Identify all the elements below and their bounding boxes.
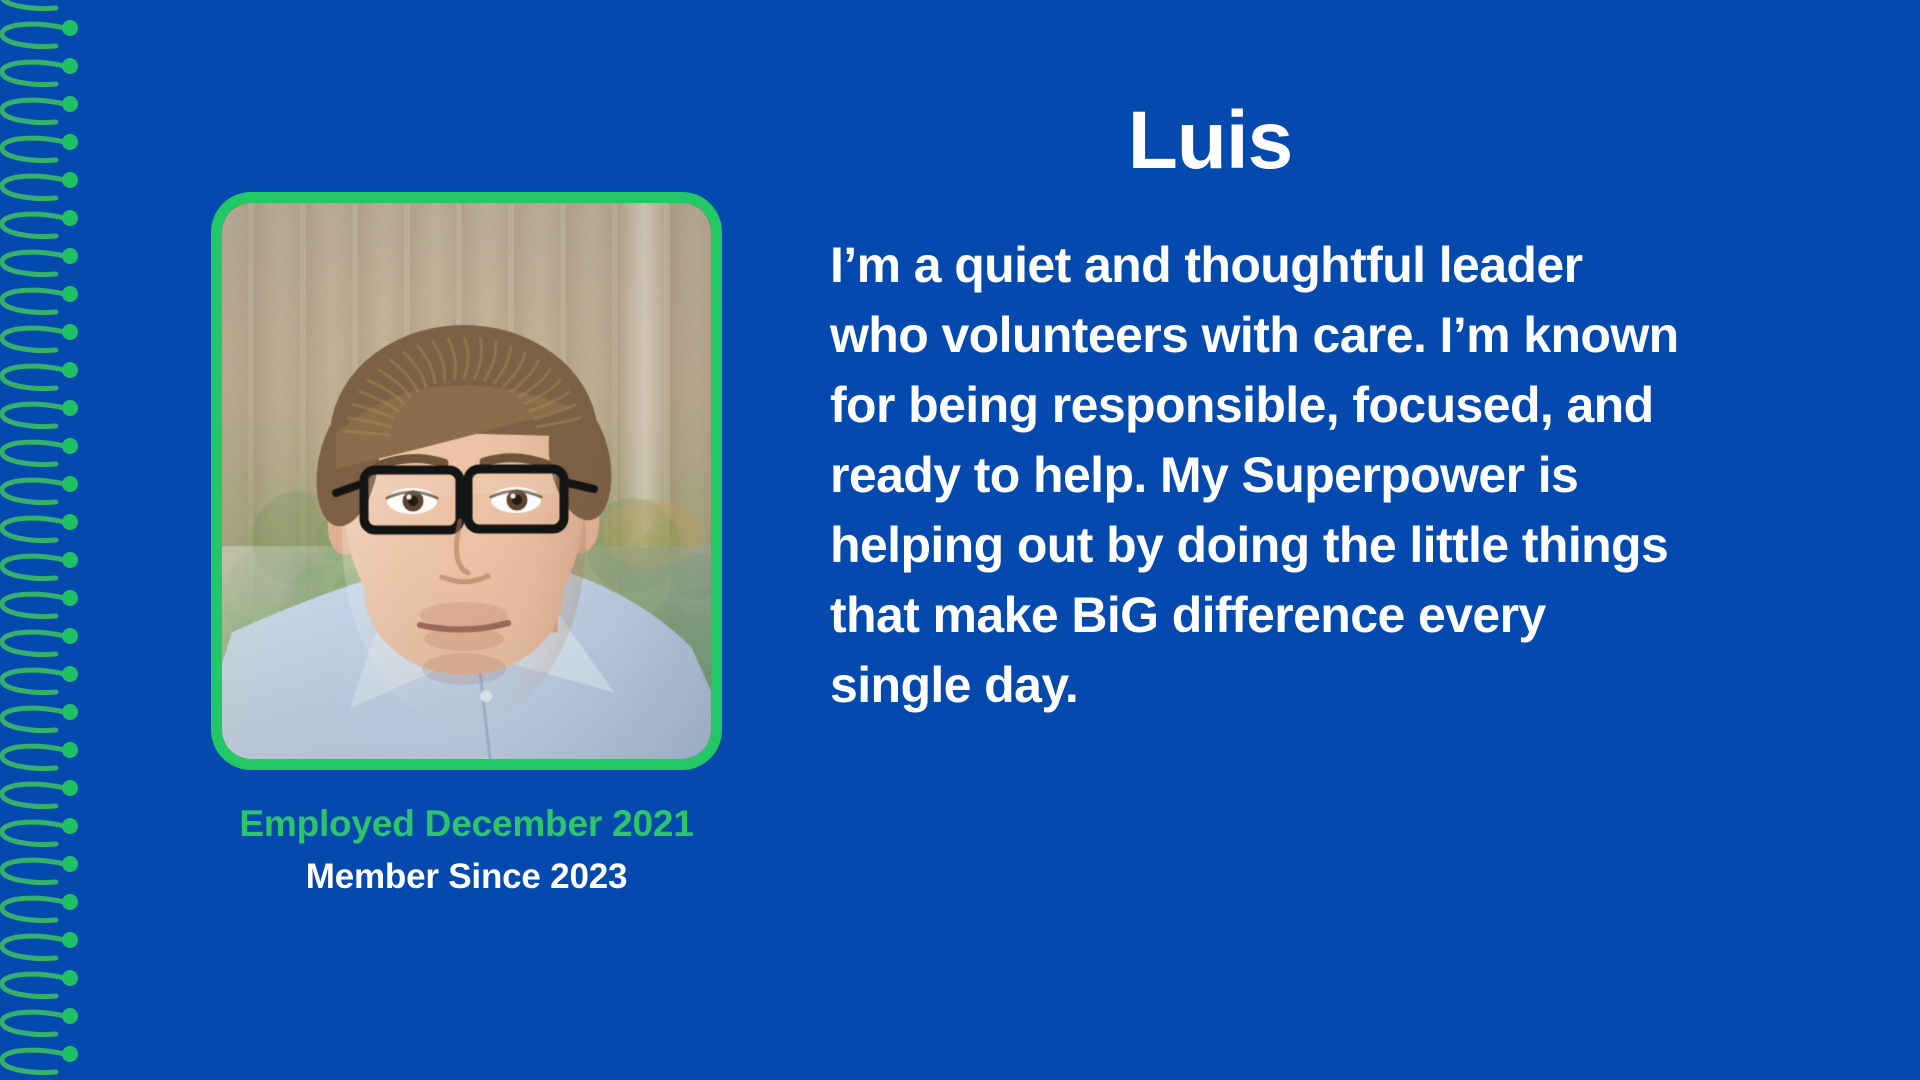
spiral-binding-icon bbox=[0, 0, 120, 1080]
person-bio-text: I’m a quiet and thoughtful leader who vo… bbox=[830, 230, 1760, 720]
spiral-ring-icon bbox=[0, 1076, 120, 1080]
member-since-caption: Member Since 2023 bbox=[211, 853, 722, 900]
profile-slide: Employed December 2021 Member Since 2023… bbox=[0, 0, 1920, 1080]
profile-text-column: Luis I’m a quiet and thoughtful leader w… bbox=[830, 100, 1800, 720]
spiral-ring-icon bbox=[0, 1038, 120, 1080]
portrait-photo-frame bbox=[211, 192, 722, 770]
portrait-photo bbox=[222, 203, 711, 759]
photo-captions: Employed December 2021 Member Since 2023 bbox=[211, 800, 722, 900]
employed-date-caption: Employed December 2021 bbox=[211, 800, 722, 848]
person-name-title: Luis bbox=[830, 100, 1590, 182]
